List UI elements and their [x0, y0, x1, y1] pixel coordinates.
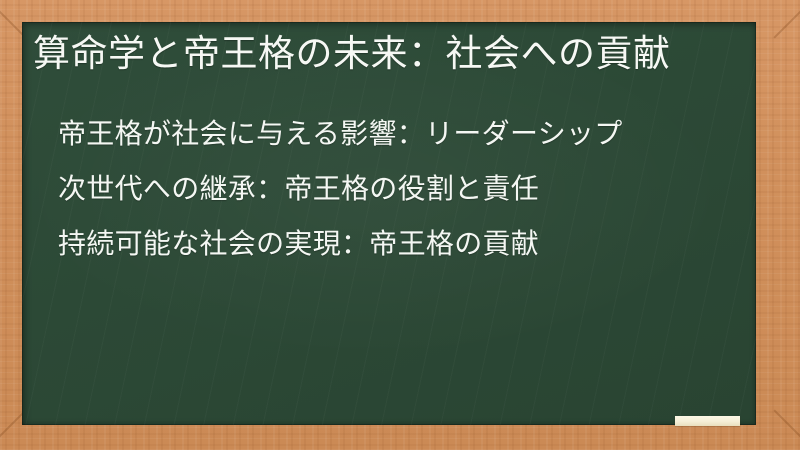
- chalkboard-slide: 算命学と帝王格の未来：社会への貢献 帝王格が社会に与える影響：リーダーシップ 次…: [0, 0, 800, 450]
- chalkboard-surface: 算命学と帝王格の未来：社会への貢献 帝王格が社会に与える影響：リーダーシップ 次…: [22, 22, 756, 425]
- list-item: 次世代への継承：帝王格の役割と責任: [58, 161, 742, 216]
- chalk-eraser-icon: [675, 416, 740, 426]
- frame-miter-bottom-right: [773, 409, 800, 440]
- slide-title: 算命学と帝王格の未来：社会への貢献: [33, 26, 742, 82]
- list-item: 帝王格が社会に与える影響：リーダーシップ: [58, 106, 742, 161]
- frame-miter-top-right: [773, 7, 800, 38]
- slide-bullet-list: 帝王格が社会に与える影響：リーダーシップ 次世代への継承：帝王格の役割と責任 持…: [58, 106, 742, 271]
- list-item: 持続可能な社会の実現：帝王格の貢献: [58, 216, 742, 271]
- chalkboard-content: 算命学と帝王格の未来：社会への貢献 帝王格が社会に与える影響：リーダーシップ 次…: [22, 22, 756, 425]
